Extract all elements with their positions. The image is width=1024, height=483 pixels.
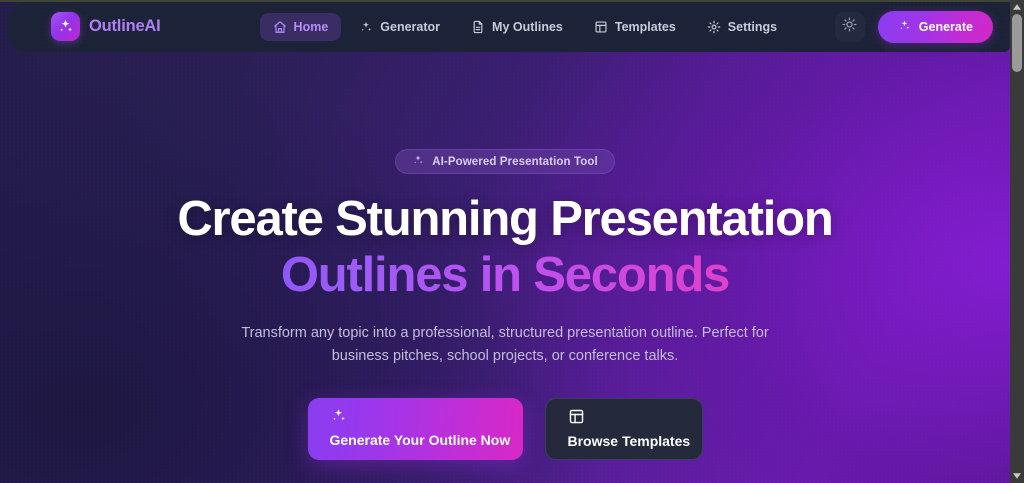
- main-nav: Home Generator: [260, 13, 791, 41]
- sparkles-icon: [330, 407, 347, 429]
- nav-label: Home: [294, 20, 329, 34]
- hero-subtitle: Transform any topic into a professional,…: [215, 322, 795, 369]
- sparkles-icon: [412, 154, 424, 169]
- sparkles-icon: [898, 19, 911, 35]
- brand-name: OutlineAI: [89, 17, 161, 36]
- brand-logo[interactable]: OutlineAI: [51, 12, 161, 41]
- gear-icon: [707, 20, 721, 34]
- nav-label: My Outlines: [492, 20, 563, 34]
- nav-item-home[interactable]: Home: [260, 13, 342, 41]
- sun-icon: [842, 17, 857, 37]
- home-icon: [273, 20, 287, 34]
- headline-line-2: Outlines in Seconds: [177, 251, 832, 300]
- vertical-scrollbar[interactable]: [1010, 0, 1024, 483]
- hero-badge: AI-Powered Presentation Tool: [395, 149, 615, 174]
- browser-viewport: OutlineAI Home Gen: [0, 0, 1024, 483]
- nav-label: Settings: [728, 20, 777, 34]
- sparkles-icon: [51, 12, 80, 41]
- hero-badge-label: AI-Powered Presentation Tool: [432, 156, 598, 168]
- header-generate-button[interactable]: Generate: [878, 11, 993, 43]
- nav-item-settings[interactable]: Settings: [694, 13, 790, 41]
- nav-item-my-outlines[interactable]: My Outlines: [458, 13, 576, 41]
- nav-label: Generator: [380, 20, 440, 34]
- caret-down-icon[interactable]: [1010, 469, 1024, 483]
- cta-label: Browse Templates: [568, 433, 691, 449]
- headline-line-1: Create Stunning Presentation: [177, 195, 832, 244]
- top-edge-strip: [0, 0, 1010, 2]
- generate-outline-button[interactable]: Generate Your Outline Now: [308, 398, 523, 460]
- hero-cta-row: Generate Your Outline Now Browse Templat…: [308, 398, 703, 460]
- sparkles-icon: [359, 20, 373, 34]
- generate-button-label: Generate: [919, 20, 973, 34]
- nav-label: Templates: [615, 20, 676, 34]
- nav-item-templates[interactable]: Templates: [581, 13, 689, 41]
- cta-label: Generate Your Outline Now: [330, 432, 511, 448]
- hero-headline: Create Stunning Presentation Outlines in…: [177, 195, 832, 300]
- hero-section: AI-Powered Presentation Tool Create Stun…: [0, 52, 1010, 483]
- nav-item-generator[interactable]: Generator: [346, 13, 453, 41]
- browse-templates-button[interactable]: Browse Templates: [545, 398, 703, 460]
- layout-icon: [568, 408, 585, 430]
- app-header: OutlineAI Home Gen: [8, 1, 1010, 52]
- document-icon: [471, 20, 485, 34]
- scrollbar-track[interactable]: [1010, 14, 1024, 469]
- layout-icon: [594, 20, 608, 34]
- caret-up-icon[interactable]: [1010, 0, 1024, 14]
- header-actions: Generate: [835, 11, 993, 43]
- theme-toggle-button[interactable]: [835, 12, 865, 42]
- scrollbar-thumb[interactable]: [1012, 14, 1022, 72]
